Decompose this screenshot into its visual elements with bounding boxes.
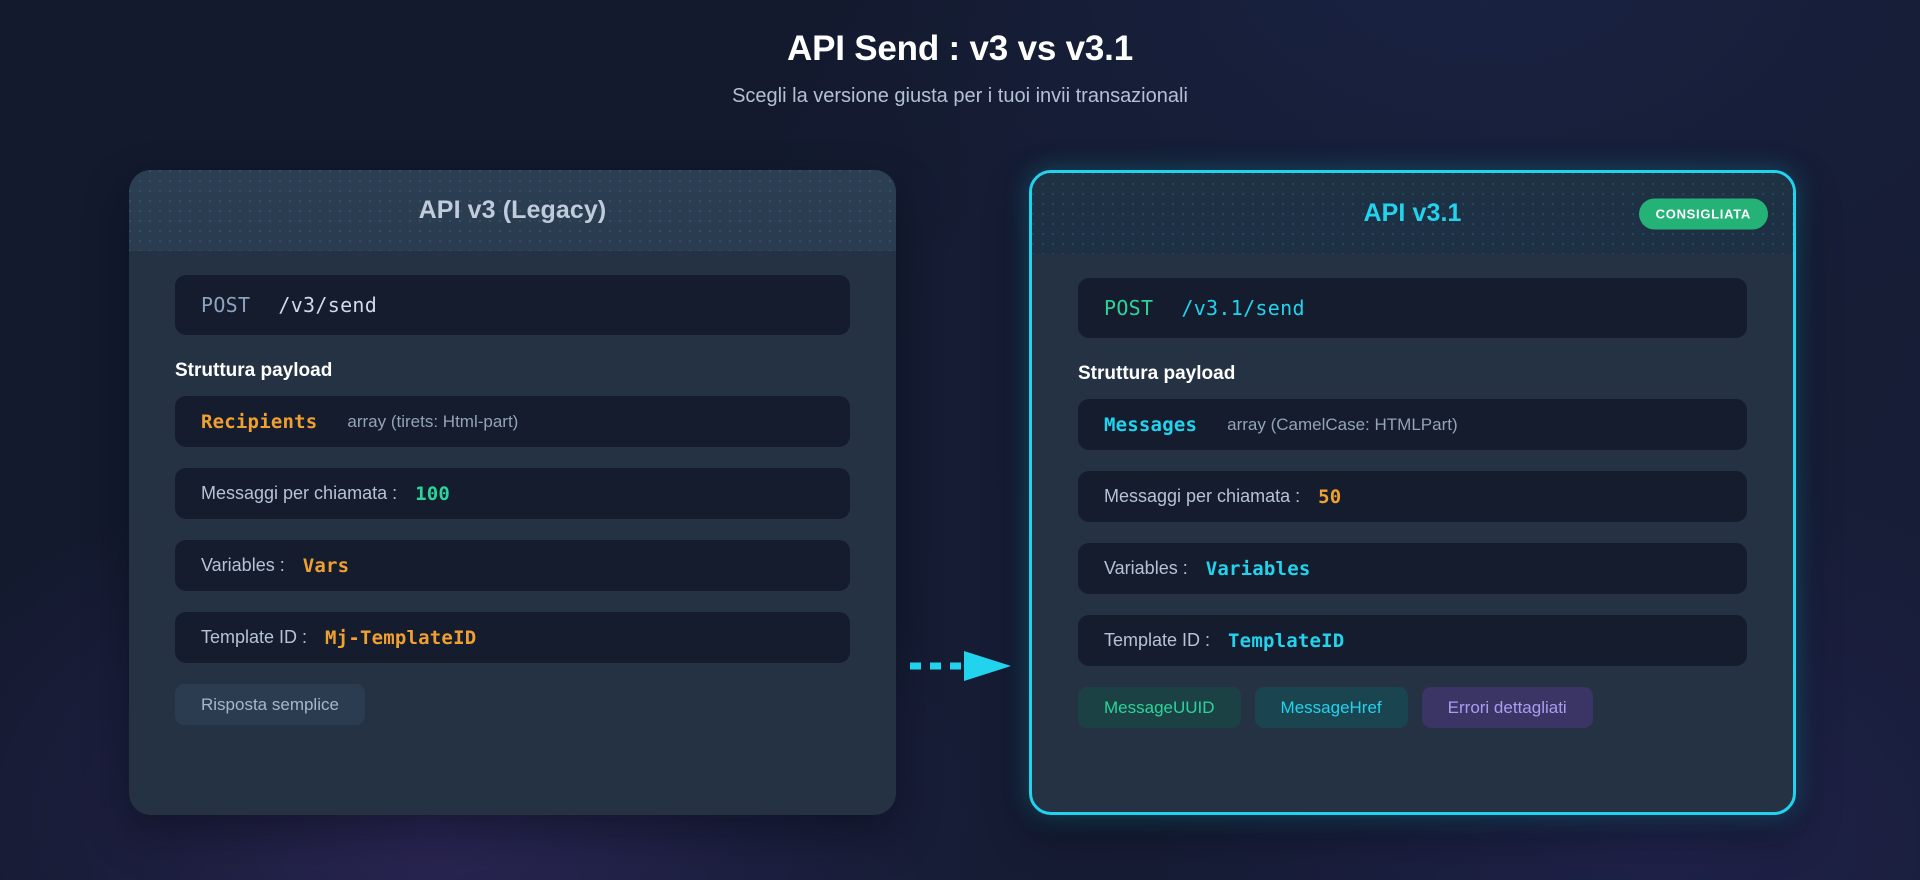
field-label-variables-v3: Variables :: [201, 555, 285, 576]
chip-errori-dettagliati[interactable]: Errori dettagliati: [1422, 687, 1593, 728]
endpoint-v3-path: /v3/send: [278, 293, 377, 317]
field-row-variables-v3[interactable]: Variables : Vars: [175, 540, 850, 591]
field-label-messages-per-call-v31: Messaggi per chiamata :: [1104, 486, 1300, 507]
card-v31-header: API v3.1 CONSIGLIATA: [1032, 173, 1793, 254]
status-badge-consigliata: CONSIGLIATA: [1639, 198, 1768, 229]
endpoint-v31[interactable]: POST /v3.1/send: [1078, 278, 1747, 338]
endpoint-v3[interactable]: POST /v3/send: [175, 275, 850, 335]
field-value-messages-per-call-v3: 100: [415, 483, 450, 505]
card-v31-body: POST /v3.1/send Struttura payload Messag…: [1032, 254, 1793, 728]
page-subtitle: Scegli la versione giusta per i tuoi inv…: [0, 85, 1920, 108]
card-v3-body: POST /v3/send Struttura payload Recipien…: [129, 251, 896, 725]
field-key-messages: Messages: [1104, 414, 1197, 436]
card-v3-title: API v3 (Legacy): [419, 196, 607, 225]
field-label-messages-per-call-v3: Messaggi per chiamata :: [201, 483, 397, 504]
field-value-variables-v31: Variables: [1206, 558, 1311, 580]
chips-v3: Risposta semplice: [175, 684, 850, 725]
field-key-recipients: Recipients: [201, 411, 317, 433]
card-api-v31[interactable]: API v3.1 CONSIGLIATA POST /v3.1/send Str…: [1029, 170, 1796, 815]
field-row-variables-v31[interactable]: Variables : Variables: [1078, 543, 1747, 594]
page-title: API Send : v3 vs v3.1: [0, 28, 1920, 69]
card-v31-title: API v3.1: [1363, 199, 1461, 228]
field-row-messages[interactable]: Messages array (CamelCase: HTMLPart): [1078, 399, 1747, 450]
field-value-template-id-v3: Mj-TemplateID: [325, 627, 476, 649]
chip-risposta-semplice[interactable]: Risposta semplice: [175, 684, 365, 725]
field-label-variables-v31: Variables :: [1104, 558, 1188, 579]
field-row-messages-per-call-v31[interactable]: Messaggi per chiamata : 50: [1078, 471, 1747, 522]
field-row-template-id-v31[interactable]: Template ID : TemplateID: [1078, 615, 1747, 666]
card-v3-header: API v3 (Legacy): [129, 170, 896, 251]
field-value-template-id-v31: TemplateID: [1228, 630, 1344, 652]
payload-label-v31: Struttura payload: [1078, 363, 1747, 385]
card-api-v3[interactable]: API v3 (Legacy) POST /v3/send Struttura …: [129, 170, 896, 815]
chip-message-href[interactable]: MessageHref: [1255, 687, 1408, 728]
endpoint-v3-method: POST: [201, 293, 250, 317]
field-note-recipients: array (tirets: Html-part): [347, 412, 518, 432]
field-value-messages-per-call-v31: 50: [1318, 486, 1341, 508]
endpoint-v31-method: POST: [1104, 296, 1153, 320]
arrow-right-dashed-icon: [908, 648, 1028, 684]
payload-label-v3: Struttura payload: [175, 360, 850, 382]
field-note-messages: array (CamelCase: HTMLPart): [1227, 415, 1458, 435]
field-row-recipients[interactable]: Recipients array (tirets: Html-part): [175, 396, 850, 447]
field-label-template-id-v31: Template ID :: [1104, 630, 1210, 651]
page-header: API Send : v3 vs v3.1 Scegli la versione…: [0, 28, 1920, 108]
field-row-messages-per-call-v3[interactable]: Messaggi per chiamata : 100: [175, 468, 850, 519]
endpoint-v31-path: /v3.1/send: [1181, 296, 1304, 320]
chip-message-uuid[interactable]: MessageUUID: [1078, 687, 1241, 728]
field-value-variables-v3: Vars: [303, 555, 350, 577]
comparison-cards: API v3 (Legacy) POST /v3/send Struttura …: [0, 170, 1920, 870]
field-row-template-id-v3[interactable]: Template ID : Mj-TemplateID: [175, 612, 850, 663]
chips-v31: MessageUUID MessageHref Errori dettaglia…: [1078, 687, 1747, 728]
field-label-template-id-v3: Template ID :: [201, 627, 307, 648]
